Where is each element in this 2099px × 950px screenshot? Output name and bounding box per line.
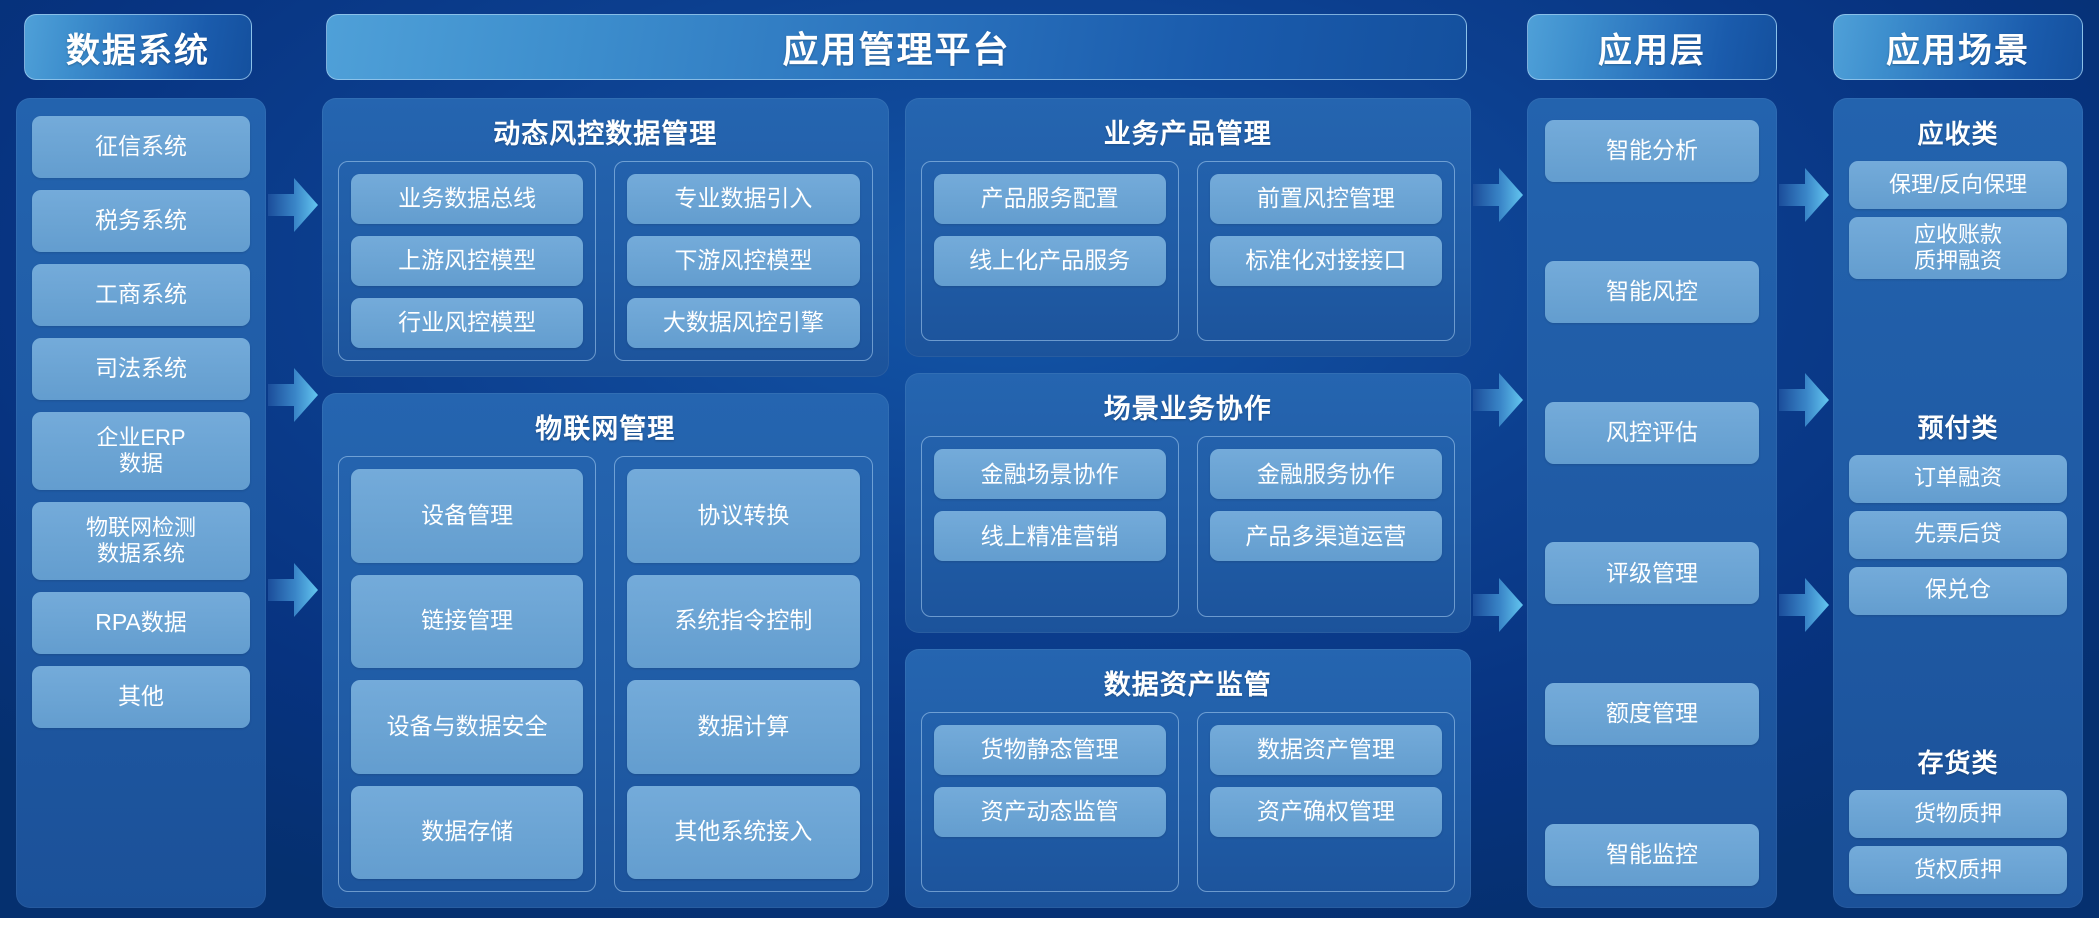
arrow-right-icon xyxy=(1473,369,1523,431)
column-scenarios: 应用场景 应收类 保理/反向保理 应收账款 质押融资 预付类 订单融资 先票后贷… xyxy=(1833,14,2083,908)
header-data-system: 数据系统 xyxy=(24,14,252,80)
subcolumns: 产品服务配置 线上化产品服务 前置风控管理 标准化对接接口 xyxy=(921,161,1456,341)
subcolumn-right: 数据资产管理 资产确权管理 xyxy=(1197,712,1455,892)
architecture-diagram: 数据系统 征信系统 税务系统 工商系统 司法系统 企业ERP 数据 物联网检测 … xyxy=(0,0,2099,918)
subcolumn-left: 货物静态管理 资产动态监管 xyxy=(921,712,1179,892)
item-data-asset-management[interactable]: 数据资产管理 xyxy=(1210,725,1442,775)
subcolumn-left: 业务数据总线 上游风控模型 行业风控模型 xyxy=(338,161,596,361)
scenario-item-note-before-loan[interactable]: 先票后贷 xyxy=(1849,511,2067,559)
subcolumn-right: 前置风控管理 标准化对接接口 xyxy=(1197,161,1455,341)
arrow-right-icon xyxy=(1779,164,1829,226)
item-asset-dynamic-supervision[interactable]: 资产动态监管 xyxy=(934,787,1166,837)
group-dynamic-risk-data-management: 动态风控数据管理 业务数据总线 上游风控模型 行业风控模型 专业数据引入 下游风… xyxy=(322,98,889,377)
scenario-category-receivables: 应收类 保理/反向保理 应收账款 质押融资 xyxy=(1849,112,2067,279)
app-item-smart-risk-control[interactable]: 智能风控 xyxy=(1545,261,1759,323)
item-professional-data-intake[interactable]: 专业数据引入 xyxy=(627,174,859,224)
group-title: 场景业务协作 xyxy=(921,387,1456,426)
header-app-layer: 应用层 xyxy=(1527,14,1777,80)
arrow-right-icon xyxy=(1779,369,1829,431)
item-industry-risk-model[interactable]: 行业风控模型 xyxy=(351,298,583,348)
scenario-item-confirmed-warehouse[interactable]: 保兑仓 xyxy=(1849,567,2067,615)
platform-body: 动态风控数据管理 业务数据总线 上游风控模型 行业风控模型 专业数据引入 下游风… xyxy=(322,98,1471,908)
item-online-precision-marketing[interactable]: 线上精准营销 xyxy=(934,511,1166,561)
data-source-rpa[interactable]: RPA数据 xyxy=(32,592,250,654)
arrow-right-icon xyxy=(1779,574,1829,636)
app-item-smart-monitoring[interactable]: 智能监控 xyxy=(1545,824,1759,886)
item-data-storage[interactable]: 数据存储 xyxy=(351,786,583,880)
scenario-category-title: 应收类 xyxy=(1849,114,2067,151)
column-app-layer: 应用层 智能分析 智能风控 风控评估 评级管理 额度管理 智能监控 xyxy=(1527,14,1777,908)
item-financial-service-collab[interactable]: 金融服务协作 xyxy=(1210,449,1442,499)
item-other-system-access[interactable]: 其他系统接入 xyxy=(627,786,859,880)
subcolumn-left: 金融场景协作 线上精准营销 xyxy=(921,436,1179,616)
subcolumn-right: 协议转换 系统指令控制 数据计算 其他系统接入 xyxy=(614,456,872,892)
group-business-product-management: 业务产品管理 产品服务配置 线上化产品服务 前置风控管理 标准化对接接口 xyxy=(905,98,1472,357)
item-online-product-service[interactable]: 线上化产品服务 xyxy=(934,236,1166,286)
item-downstream-risk-model[interactable]: 下游风控模型 xyxy=(627,236,859,286)
header-scenarios: 应用场景 xyxy=(1833,14,2083,80)
subcolumns: 业务数据总线 上游风控模型 行业风控模型 专业数据引入 下游风控模型 大数据风控… xyxy=(338,161,873,361)
connector-group-data-to-platform xyxy=(266,14,322,908)
item-link-management[interactable]: 链接管理 xyxy=(351,575,583,669)
group-data-asset-supervision: 数据资产监管 货物静态管理 资产动态监管 数据资产管理 资产确权管理 xyxy=(905,649,1472,908)
subcolumns: 货物静态管理 资产动态监管 数据资产管理 资产确权管理 xyxy=(921,712,1456,892)
data-source-shuiwu[interactable]: 税务系统 xyxy=(32,190,250,252)
item-device-management[interactable]: 设备管理 xyxy=(351,469,583,563)
scenario-item-receivables-pledge-financing[interactable]: 应收账款 质押融资 xyxy=(1849,217,2067,279)
scenario-category-title: 存货类 xyxy=(1849,743,2067,780)
scenarios-panel: 应收类 保理/反向保理 应收账款 质押融资 预付类 订单融资 先票后贷 保兑仓 … xyxy=(1833,98,2083,908)
item-product-service-config[interactable]: 产品服务配置 xyxy=(934,174,1166,224)
group-title: 数据资产监管 xyxy=(921,663,1456,702)
item-data-computation[interactable]: 数据计算 xyxy=(627,680,859,774)
scenario-item-factoring[interactable]: 保理/反向保理 xyxy=(1849,161,2067,209)
arrow-right-icon xyxy=(268,174,318,236)
item-goods-static-management[interactable]: 货物静态管理 xyxy=(934,725,1166,775)
subcolumns: 设备管理 链接管理 设备与数据安全 数据存储 协议转换 系统指令控制 数据计算 … xyxy=(338,456,873,892)
scenario-category-inventory: 存货类 货物质押 货权质押 xyxy=(1849,741,2067,894)
group-title: 业务产品管理 xyxy=(921,112,1456,151)
group-scenario-business-collaboration: 场景业务协作 金融场景协作 线上精准营销 金融服务协作 产品多渠道运营 xyxy=(905,373,1472,632)
group-title: 物联网管理 xyxy=(338,407,873,446)
item-asset-ownership-management[interactable]: 资产确权管理 xyxy=(1210,787,1442,837)
item-standard-interface[interactable]: 标准化对接接口 xyxy=(1210,236,1442,286)
group-iot-management: 物联网管理 设备管理 链接管理 设备与数据安全 数据存储 协议转换 系统指令控制… xyxy=(322,393,889,908)
subcolumn-left: 产品服务配置 线上化产品服务 xyxy=(921,161,1179,341)
arrow-right-icon xyxy=(1473,164,1523,226)
platform-right-stack: 业务产品管理 产品服务配置 线上化产品服务 前置风控管理 标准化对接接口 场景业… xyxy=(905,98,1472,908)
subcolumns: 金融场景协作 线上精准营销 金融服务协作 产品多渠道运营 xyxy=(921,436,1456,616)
app-item-rating-management[interactable]: 评级管理 xyxy=(1545,542,1759,604)
group-title: 动态风控数据管理 xyxy=(338,112,873,151)
connector-group-app-to-scenarios xyxy=(1777,14,1833,908)
app-item-smart-analysis[interactable]: 智能分析 xyxy=(1545,120,1759,182)
item-pre-risk-management[interactable]: 前置风控管理 xyxy=(1210,174,1442,224)
item-multichannel-operation[interactable]: 产品多渠道运营 xyxy=(1210,511,1442,561)
column-data-system: 数据系统 征信系统 税务系统 工商系统 司法系统 企业ERP 数据 物联网检测 … xyxy=(16,14,266,908)
item-upstream-risk-model[interactable]: 上游风控模型 xyxy=(351,236,583,286)
arrow-right-icon xyxy=(268,559,318,621)
scenario-item-goods-pledge[interactable]: 货物质押 xyxy=(1849,790,2067,838)
data-source-other[interactable]: 其他 xyxy=(32,666,250,728)
subcolumn-right: 专业数据引入 下游风控模型 大数据风控引擎 xyxy=(614,161,872,361)
item-system-command-control[interactable]: 系统指令控制 xyxy=(627,575,859,669)
item-financial-scenario-collab[interactable]: 金融场景协作 xyxy=(934,449,1166,499)
arrow-right-icon xyxy=(1473,574,1523,636)
item-bigdata-risk-engine[interactable]: 大数据风控引擎 xyxy=(627,298,859,348)
header-platform: 应用管理平台 xyxy=(326,14,1467,80)
platform-left-stack: 动态风控数据管理 业务数据总线 上游风控模型 行业风控模型 专业数据引入 下游风… xyxy=(322,98,889,908)
subcolumn-right: 金融服务协作 产品多渠道运营 xyxy=(1197,436,1455,616)
data-source-iot[interactable]: 物联网检测 数据系统 xyxy=(32,502,250,580)
app-item-risk-assessment[interactable]: 风控评估 xyxy=(1545,402,1759,464)
arrow-right-icon xyxy=(268,364,318,426)
connector-group-platform-to-app xyxy=(1471,14,1527,908)
scenario-category-title: 预付类 xyxy=(1849,408,2067,445)
app-item-credit-limit-management[interactable]: 额度管理 xyxy=(1545,683,1759,745)
data-source-erp[interactable]: 企业ERP 数据 xyxy=(32,412,250,490)
bottom-white-strip xyxy=(0,918,2099,950)
scenario-item-cargo-right-pledge[interactable]: 货权质押 xyxy=(1849,846,2067,894)
column-platform: 应用管理平台 动态风控数据管理 业务数据总线 上游风控模型 行业风控模型 专业数… xyxy=(322,14,1471,908)
data-system-panel: 征信系统 税务系统 工商系统 司法系统 企业ERP 数据 物联网检测 数据系统 … xyxy=(16,98,266,908)
scenario-item-order-financing[interactable]: 订单融资 xyxy=(1849,455,2067,503)
item-device-data-security[interactable]: 设备与数据安全 xyxy=(351,680,583,774)
item-protocol-conversion[interactable]: 协议转换 xyxy=(627,469,859,563)
app-layer-panel: 智能分析 智能风控 风控评估 评级管理 额度管理 智能监控 xyxy=(1527,98,1777,908)
item-business-data-bus[interactable]: 业务数据总线 xyxy=(351,174,583,224)
data-source-zhengxin[interactable]: 征信系统 xyxy=(32,116,250,178)
data-source-sifa[interactable]: 司法系统 xyxy=(32,338,250,400)
data-source-gongshang[interactable]: 工商系统 xyxy=(32,264,250,326)
scenario-category-prepayment: 预付类 订单融资 先票后贷 保兑仓 xyxy=(1849,406,2067,615)
subcolumn-left: 设备管理 链接管理 设备与数据安全 数据存储 xyxy=(338,456,596,892)
